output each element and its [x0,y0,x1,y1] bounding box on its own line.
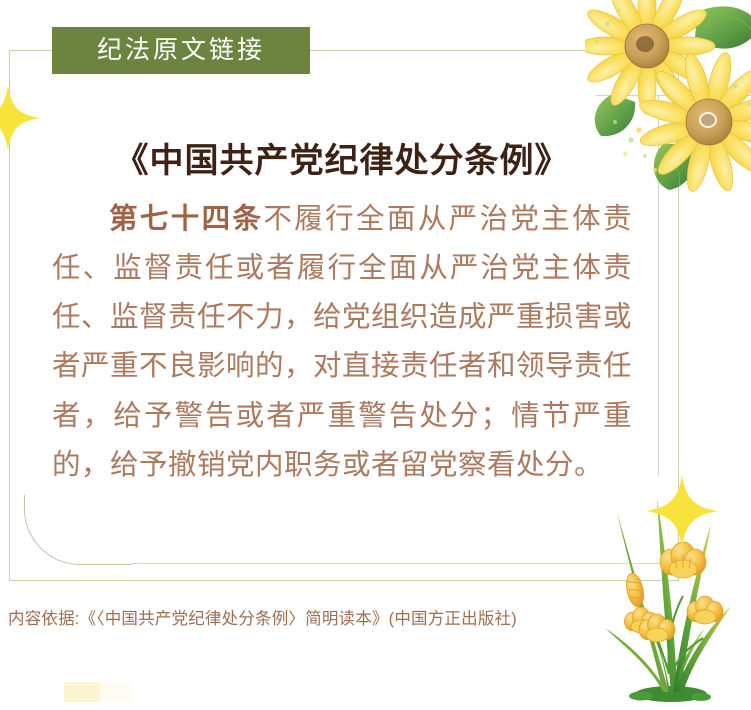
decorative-frame-inner-right-line [658,95,659,475]
section-title-badge: 纪法原文链接 [52,27,310,74]
poster-canvas: 纪法原文链接 《中国共产党纪律处分条例》 第七十四条不履行全面从严治党主体责任、… [0,0,751,710]
decorative-frame-corner-extension [131,563,671,564]
section-title-label: 纪法原文链接 [97,38,265,63]
decorative-swatch-left [64,682,100,702]
decorative-swatch-right [100,682,132,702]
decorative-frame-inner-top-line [596,95,751,96]
article-number: 第七十四条 [109,203,263,235]
article-content: 《中国共产党纪律处分条例》 第七十四条不履行全面从严治党主体责任、监督责任或者履… [52,140,632,490]
article-body: 第七十四条不履行全面从严治党主体责任、监督责任或者履行全面从严治党主体责任、监督… [52,195,632,491]
source-note: 内容依据:《〈中国共产党纪律处分条例〉简明读本》(中国方正出版社) [8,605,517,629]
article-body-text: 不履行全面从严治党主体责任、监督责任或者履行全面从严治党主体责任、监督责任不力，… [52,203,632,481]
document-title: 《中国共产党纪律处分条例》 [52,140,632,183]
